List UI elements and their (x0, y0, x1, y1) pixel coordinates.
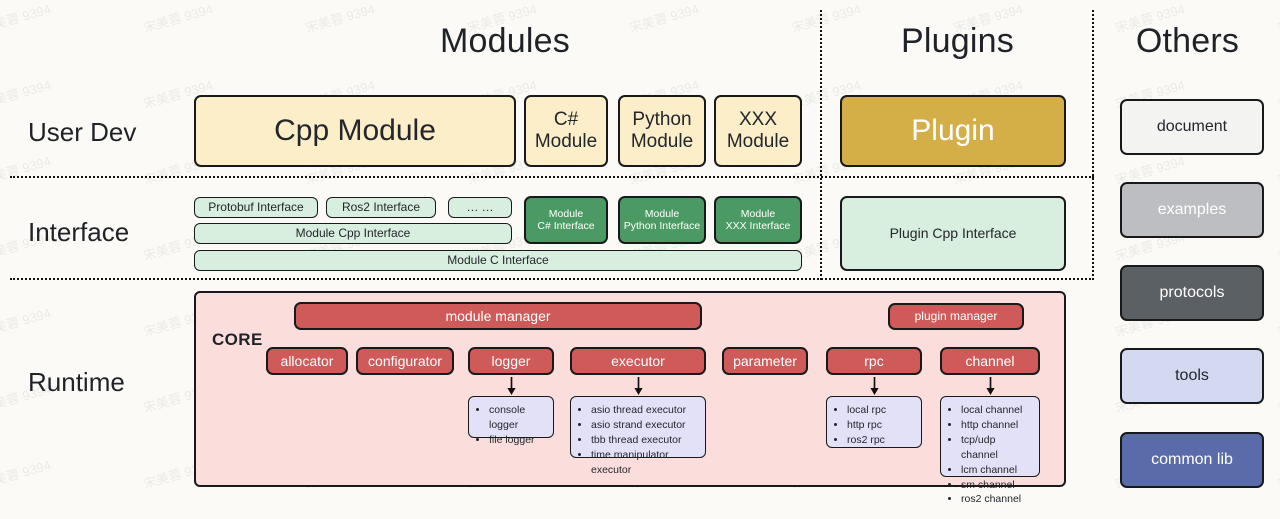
detail-list-item: file logger (489, 433, 546, 448)
detail-box-channel: local channelhttp channeltcp/udp channel… (940, 396, 1040, 477)
arrow-logger-down (495, 377, 527, 395)
watermark-text: 宋美蓉 9394 (1275, 379, 1280, 417)
detail-list-item: local rpc (847, 403, 914, 418)
box-plugin-cpp-interface[interactable]: Plugin Cpp Interface (840, 196, 1066, 271)
column-header-modules: Modules (190, 24, 820, 58)
arrow-channel-down (974, 377, 1006, 395)
watermark-text: 宋美蓉 9394 (1275, 0, 1280, 36)
detail-box-rpc: local rpchttp rpcros2 rpc (826, 396, 922, 448)
box-module-manager[interactable]: module manager (294, 302, 702, 330)
detail-list: local channelhttp channeltcp/udp channel… (948, 403, 1032, 507)
row-label-runtime: Runtime (28, 362, 188, 402)
box-module-python-interface[interactable]: ModulePython Interface (618, 196, 706, 244)
box-python-module[interactable]: PythonModule (618, 95, 706, 167)
detail-list-item: asio thread executor (591, 403, 698, 418)
row-label-interface: Interface (28, 212, 188, 252)
arrow-executor-down (622, 377, 654, 395)
detail-list-item: sm channel (961, 478, 1032, 493)
box-module-c-interface[interactable]: Module C Interface (194, 250, 802, 271)
detail-box-logger: console loggerfile logger (468, 396, 554, 438)
divider-plugins-others (1092, 10, 1094, 280)
detail-list-item: asio strand executor (591, 418, 698, 433)
box-module-xxx-interface[interactable]: ModuleXXX Interface (714, 196, 802, 244)
box-more-interface[interactable]: … … (448, 197, 512, 218)
watermark-text: 宋美蓉 9394 (0, 455, 53, 493)
row-label-user-dev: User Dev (28, 112, 188, 152)
box-tools[interactable]: tools (1120, 348, 1264, 404)
box-xxx-module[interactable]: XXXModule (714, 95, 802, 167)
detail-list: asio thread executorasio strand executor… (578, 403, 698, 478)
box-examples[interactable]: examples (1120, 182, 1264, 238)
watermark-text: 宋美蓉 9394 (0, 0, 53, 36)
box-parameter[interactable]: parameter (722, 347, 808, 375)
box-ros2-interface[interactable]: Ros2 Interface (326, 197, 436, 218)
box-rpc[interactable]: rpc (826, 347, 922, 375)
box-channel[interactable]: channel (940, 347, 1040, 375)
divider-interface-runtime (10, 278, 1094, 280)
box-logger[interactable]: logger (468, 347, 554, 375)
box-configurator[interactable]: configurator (356, 347, 454, 375)
box-allocator[interactable]: allocator (266, 347, 348, 375)
core-label: CORE (212, 330, 263, 350)
detail-list-item: ros2 rpc (847, 433, 914, 448)
detail-list: console loggerfile logger (476, 403, 546, 448)
box-executor[interactable]: executor (570, 347, 706, 375)
detail-list: local rpchttp rpcros2 rpc (834, 403, 914, 448)
diagram-canvas: 宋美蓉 9394宋美蓉 9394宋美蓉 9394宋美蓉 9394宋美蓉 9394… (0, 0, 1280, 519)
detail-list-item: ros2 channel (961, 492, 1032, 507)
box-csharp-module[interactable]: C#Module (524, 95, 608, 167)
watermark-text: 宋美蓉 9394 (0, 151, 53, 189)
divider-modules-plugins (820, 10, 822, 280)
box-plugin[interactable]: Plugin (840, 95, 1066, 167)
box-protobuf-interface[interactable]: Protobuf Interface (194, 197, 318, 218)
box-module-csharp-interface[interactable]: ModuleC# Interface (524, 196, 608, 244)
detail-list-item: http rpc (847, 418, 914, 433)
column-header-plugins: Plugins (830, 24, 1085, 58)
detail-list-item: http channel (961, 418, 1032, 433)
detail-list-item: lcm channel (961, 463, 1032, 478)
detail-list-item: local channel (961, 403, 1032, 418)
detail-list-item: tcp/udp channel (961, 433, 1032, 463)
box-plugin-manager[interactable]: plugin manager (888, 303, 1024, 330)
watermark-text: 宋美蓉 9394 (1275, 303, 1280, 341)
watermark-text: 宋美蓉 9394 (1275, 227, 1280, 265)
watermark-text: 宋美蓉 9394 (1275, 151, 1280, 189)
box-document[interactable]: document (1120, 99, 1264, 155)
detail-list-item: time manipulator executor (591, 448, 698, 478)
box-common-lib[interactable]: common lib (1120, 432, 1264, 488)
box-module-cpp-interface[interactable]: Module Cpp Interface (194, 223, 512, 244)
arrow-rpc-down (858, 377, 890, 395)
divider-userdev-interface (10, 176, 1094, 178)
detail-list-item: console logger (489, 403, 546, 433)
watermark-text: 宋美蓉 9394 (0, 75, 53, 113)
box-cpp-module[interactable]: Cpp Module (194, 95, 516, 167)
watermark-text: 宋美蓉 9394 (1275, 455, 1280, 493)
detail-box-executor: asio thread executorasio strand executor… (570, 396, 706, 458)
box-protocols[interactable]: protocols (1120, 265, 1264, 321)
watermark-text: 宋美蓉 9394 (1275, 75, 1280, 113)
detail-list-item: tbb thread executor (591, 433, 698, 448)
column-header-others: Others (1100, 24, 1275, 58)
watermark-text: 宋美蓉 9394 (0, 303, 53, 341)
